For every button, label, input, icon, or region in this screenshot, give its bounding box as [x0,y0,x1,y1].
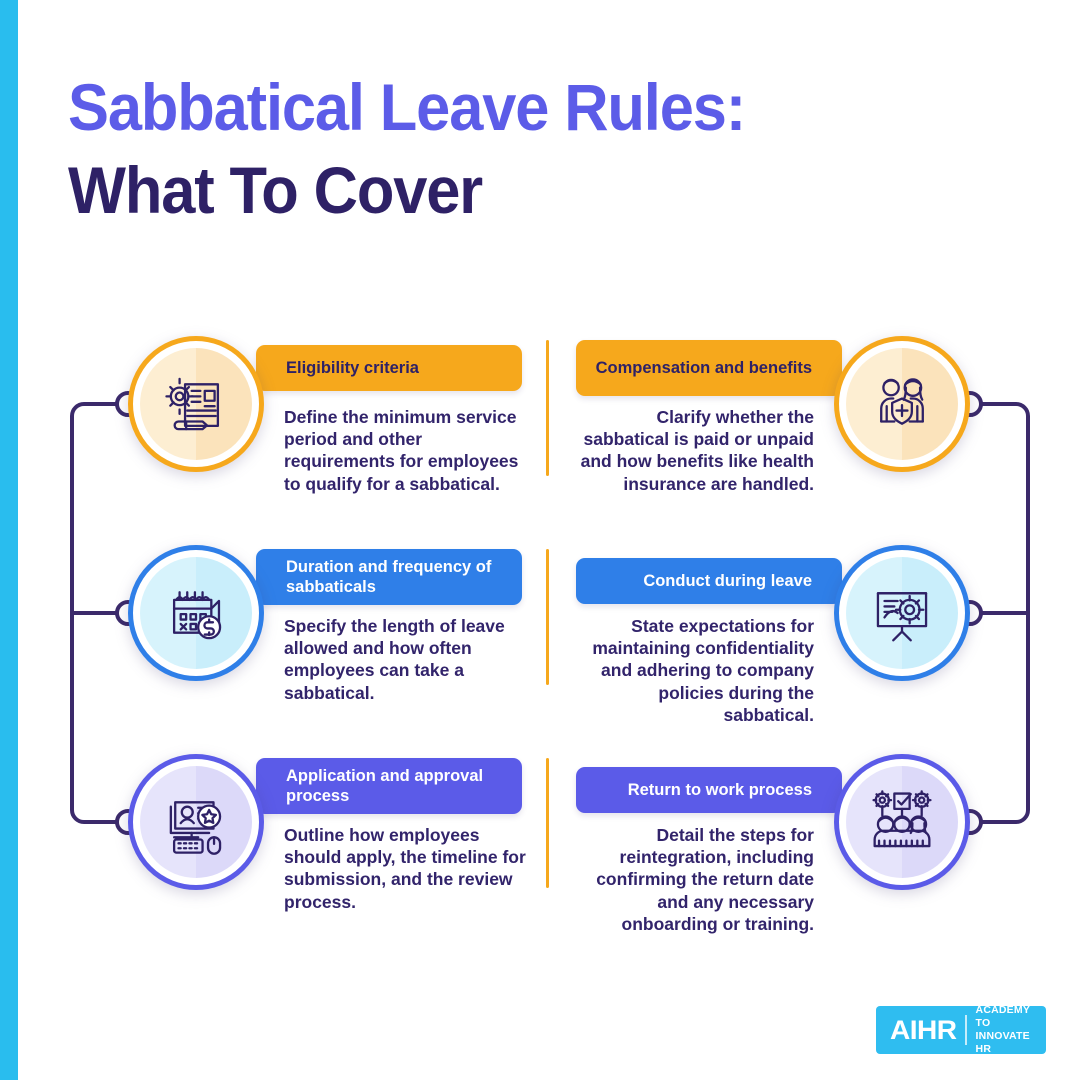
infographic-canvas: Sabbatical Leave Rules: What To Cover [0,0,1080,1080]
computer-profile-star-icon [161,787,231,857]
card-heading-pill: Return to work process [576,767,842,813]
card-body: Specify the length of leave allowed and … [284,615,526,704]
logo-wordmark: AIHR [890,1015,957,1046]
logo-tagline-line-2: INNOVATE HR [976,1030,1032,1056]
logo-tagline: ACADEMY TO INNOVATE HR [976,1004,1032,1055]
two-people-health-shield-icon [867,369,937,439]
logo-divider [965,1015,967,1045]
presentation-board-gear-icon [867,578,937,648]
card-body: Outline how employees should apply, the … [284,824,526,913]
card-heading: Conduct during leave [576,571,842,591]
card-heading-pill: Application and approval process [256,758,522,814]
card-heading: Application and approval process [256,766,522,806]
card-body: State expectations for maintaining confi… [572,615,814,726]
calendar-dollar-icon [161,578,231,648]
card-body: Detail the steps for reintegration, incl… [572,824,814,935]
card-heading-pill: Duration and frequency of sabbaticals [256,549,522,605]
medallion-compensation-and-benefits [834,336,970,472]
document-gear-pencil-icon [161,369,231,439]
medallion-duration-and-frequency [128,545,264,681]
team-gears-checklist-icon [867,787,937,857]
card-heading-pill: Conduct during leave [576,558,842,604]
card-body: Define the minimum service period and ot… [284,406,526,495]
card-heading: Eligibility criteria [256,358,522,378]
logo-tagline-line-1: ACADEMY TO [976,1004,1032,1030]
aihr-logo: AIHR ACADEMY TO INNOVATE HR [876,1006,1046,1054]
card-heading-pill: Eligibility criteria [256,345,522,391]
medallion-application-and-approval [128,754,264,890]
card-heading: Compensation and benefits [576,358,842,378]
medallion-conduct-during-leave [834,545,970,681]
card-heading: Duration and frequency of sabbaticals [256,557,522,597]
card-heading-pill: Compensation and benefits [576,340,842,396]
medallion-eligibility-criteria [128,336,264,472]
card-body: Clarify whether the sabbatical is paid o… [572,406,814,495]
card-grid: Eligibility criteria Define the minimum … [0,0,1080,1080]
medallion-return-to-work-process [834,754,970,890]
card-heading: Return to work process [576,780,842,800]
